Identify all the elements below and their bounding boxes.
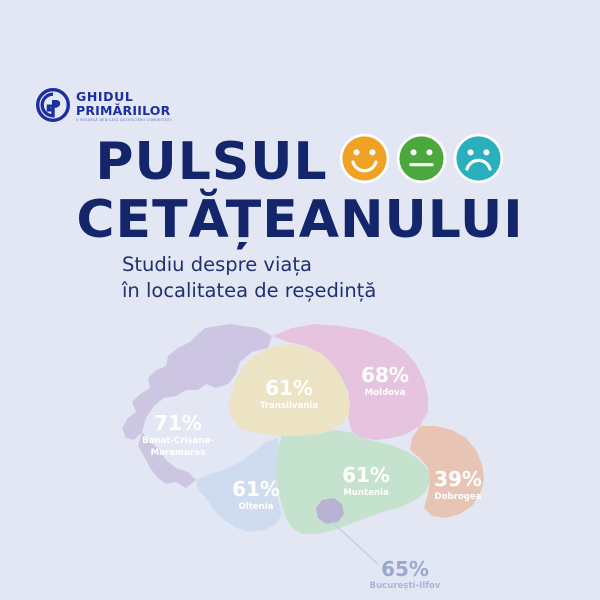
map-name-bucuresti: București-Ilfov xyxy=(369,581,440,591)
happy-face-icon xyxy=(338,132,391,185)
map-pct-dobrogea: 39% xyxy=(434,467,482,491)
map-pct-bucuresti: 65% xyxy=(381,557,429,581)
map-label-oltenia: 61% Oltenia xyxy=(232,477,280,512)
brand-name-line2: PRIMĂRIILOR xyxy=(76,105,172,118)
brand-logo-text: GHIDUL PRIMĂRIILOR O RESURSĂ DEDICATĂ DE… xyxy=(76,91,172,122)
map-name-muntenia: Muntenia xyxy=(343,488,389,498)
map-label-banat: 71% Banat-Crișana- Maramureș xyxy=(142,411,214,458)
map-name-banat-line2: Maramureș xyxy=(151,448,206,458)
map-pct-transilvania: 61% xyxy=(265,376,313,400)
map-name-transilvania: Transilvania xyxy=(260,401,319,411)
sad-face-icon xyxy=(452,132,505,185)
map-label-moldova: 68% Moldova xyxy=(361,363,409,398)
map-label-dobrogea: 39% Dobrogea xyxy=(434,467,482,502)
neutral-face-icon xyxy=(395,132,448,185)
page-title-line2: CETĂȚEANULUI xyxy=(0,195,600,246)
subtitle-line2: în localitatea de reședință xyxy=(122,278,376,304)
map-pct-muntenia: 61% xyxy=(342,463,390,487)
map-label-transilvania: 61% Transilvania xyxy=(260,376,319,411)
map-name-moldova: Moldova xyxy=(365,388,406,398)
brand-logo[interactable]: GHIDUL PRIMĂRIILOR O RESURSĂ DEDICATĂ DE… xyxy=(36,88,172,126)
map-name-oltenia: Oltenia xyxy=(238,502,273,512)
page-title-line1: PULSUL xyxy=(95,137,327,188)
title-block: PULSUL xyxy=(0,132,600,246)
poster-canvas: GHIDUL PRIMĂRIILOR O RESURSĂ DEDICATĂ DE… xyxy=(0,0,600,600)
ghidul-primariilor-monogram-icon xyxy=(36,88,70,126)
mood-faces-group xyxy=(338,132,505,185)
map-label-bucuresti: 65% București-Ilfov xyxy=(369,557,440,591)
map-name-banat-line1: Banat-Crișana- xyxy=(142,436,214,446)
subtitle: Studiu despre viața în localitatea de re… xyxy=(122,252,376,303)
brand-tagline: O RESURSĂ DEDICATĂ DEZVOLTĂRII COMUNITĂȚ… xyxy=(76,119,172,122)
map-pct-oltenia: 61% xyxy=(232,477,280,501)
title-row-1: PULSUL xyxy=(0,132,600,193)
map-label-muntenia: 61% Muntenia xyxy=(342,463,390,498)
map-name-dobrogea: Dobrogea xyxy=(434,492,481,502)
bucuresti-leader-line xyxy=(332,522,378,564)
map-pct-banat: 71% xyxy=(154,411,202,435)
romania-region-map: 71% Banat-Crișana- Maramureș 61% Transil… xyxy=(0,322,600,600)
subtitle-line1: Studiu despre viața xyxy=(122,252,376,278)
map-pct-moldova: 68% xyxy=(361,363,409,387)
